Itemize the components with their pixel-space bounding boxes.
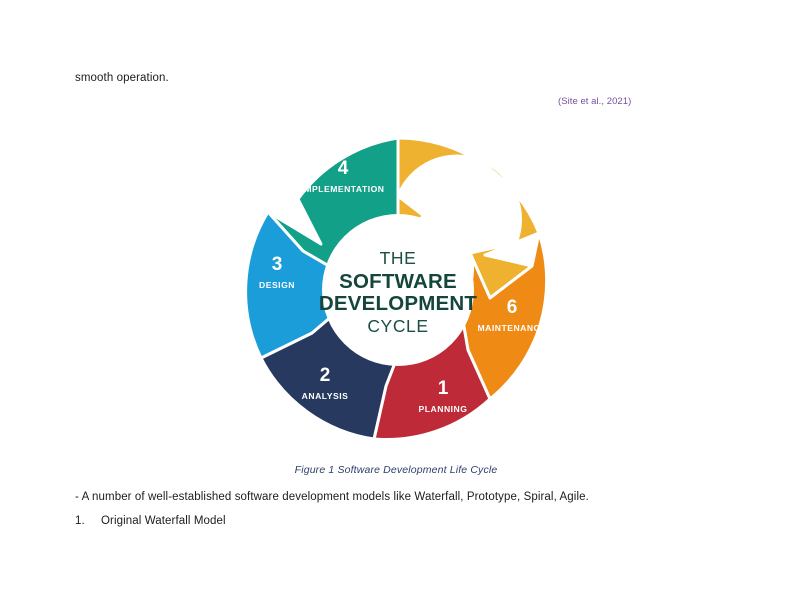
segment-number-6: 6 xyxy=(507,297,518,318)
paragraph-top: smooth operation. xyxy=(75,70,169,87)
center-text-cycle: CYCLE xyxy=(367,316,428,336)
segment-number-2: 2 xyxy=(320,365,331,386)
segment-number-5: 5 xyxy=(459,170,470,191)
document-page: smooth operation. (Site et al., 2021) 4 … xyxy=(0,0,792,612)
segment-label-design: DESIGN xyxy=(259,280,295,290)
list-item-text: Original Waterfall Model xyxy=(101,515,226,527)
citation-reference: (Site et al., 2021) xyxy=(558,96,631,107)
segment-number-3: 3 xyxy=(272,254,283,275)
segment-label-testing: TESTING & xyxy=(439,196,489,206)
sdlc-cycle-diagram: 4 IMPLEMENTATION 5 TESTING & INTEGRATION… xyxy=(228,118,568,462)
segment-number-4: 4 xyxy=(338,158,349,179)
segment-label-planning: PLANNING xyxy=(419,404,468,414)
segment-label-analysis: ANALYSIS xyxy=(302,391,349,401)
segment-label-integration: INTEGRATION xyxy=(432,210,496,220)
sdlc-donut-svg: 4 IMPLEMENTATION 5 TESTING & INTEGRATION… xyxy=(228,118,568,462)
center-text-software: SOFTWARE xyxy=(339,270,457,293)
center-text-development: DEVELOPMENT xyxy=(319,292,478,315)
list-item-number: 1. xyxy=(75,513,101,530)
list-item: 1.Original Waterfall Model xyxy=(75,513,226,530)
segment-label-implementation: IMPLEMENTATION xyxy=(301,184,384,194)
paragraph-models: - A number of well-established software … xyxy=(75,489,589,506)
segment-label-maintenance: MAINTENANCE xyxy=(478,323,547,333)
center-text-the: THE xyxy=(380,248,417,268)
segment-number-1: 1 xyxy=(438,378,449,399)
figure-caption: Figure 1 Software Development Life Cycle xyxy=(0,464,792,476)
